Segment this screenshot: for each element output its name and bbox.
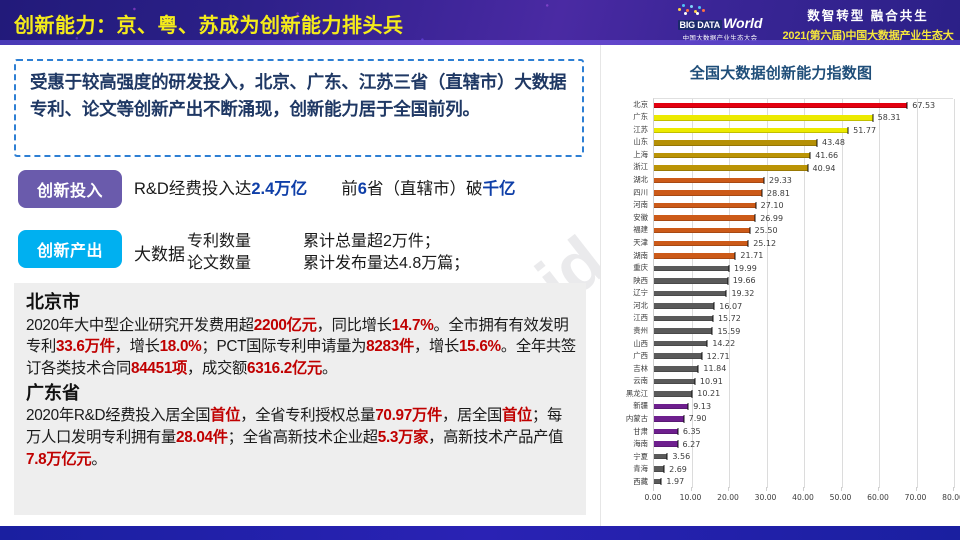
chart-bar-value-label: 11.84 [703,364,726,373]
chart-bar-value-label: 15.59 [717,327,740,336]
chart-tick-mark [916,487,917,491]
chart-category-label: 宁夏 [611,450,651,463]
chart-category-label: 山东 [611,136,651,149]
callout-text: 受惠于较高强度的研发投入，北京、广东、江苏三省（直辖市）大数据专利、论文等创新产… [30,69,570,123]
chart-bar-value-label: 41.66 [815,151,838,160]
badge-innovation-output: 创新产出 [18,230,122,268]
chart-tick-label: 70.00 [905,493,927,502]
chart-category-label: 浙江 [611,161,651,174]
chart-bar [654,441,678,447]
chart-category-label: 黑龙江 [611,387,651,400]
chart-bar-value-label: 25.12 [753,239,776,248]
chart-category-label: 西藏 [611,475,651,488]
chart-bar [654,153,810,159]
chart-category-label: 青海 [611,463,651,476]
chart-bar-row: 51.77 [654,124,953,137]
logo-subtitle: 中国大数据产业生态大会 [683,32,758,42]
chart-category-label: 甘肃 [611,425,651,438]
regions-detail-box: 北京市 2020年大中型企业研究开发费用超2200亿元，同比增长14.7%。全市… [14,283,586,515]
chart-bar [654,178,764,184]
chart-bar [654,190,762,196]
chart-bar-row: 6.27 [654,438,953,451]
chart-bar-row: 28.81 [654,187,953,200]
chart-bar-value-label: 43.48 [822,138,845,147]
chart-bar-row: 15.59 [654,325,953,338]
chart-category-label: 陕西 [611,274,651,287]
chart-bar [654,303,714,309]
chart-bar [654,454,667,460]
chart-category-label: 贵州 [611,324,651,337]
chart-category-label: 海南 [611,438,651,451]
chart-bar-value-label: 29.33 [769,176,792,185]
chart-category-label: 江西 [611,312,651,325]
chart-bar [654,278,728,284]
chart-bar-row: 14.22 [654,337,953,350]
chart-category-axis: 北京广东江苏山东上海浙江湖北四川河南安徽福建天津湖南重庆陕西辽宁河北江西贵州山西… [611,98,651,488]
header-slogan: 数智转型 融合共生 2021(第六届)中国大数据产业生态大会 [780,5,956,45]
chart-bar-row: 15.72 [654,312,953,325]
chart-bar-value-label: 25.50 [755,226,778,235]
chart-bar [654,328,712,334]
footer-bar [0,526,960,540]
chart-bar-row: 9.13 [654,400,953,413]
chart-tick-mark [803,487,804,491]
chart-tick-label: 0.00 [645,493,662,502]
chart-bar-value-label: 12.71 [707,352,730,361]
chart-bar [654,241,748,247]
chart-bar [654,316,713,322]
chart-tick-mark [878,487,879,491]
chart-bar [654,115,873,121]
chart-category-label: 湖北 [611,173,651,186]
chart-tick-label: 20.00 [717,493,739,502]
chart-category-label: 四川 [611,186,651,199]
chart-bar-row: 2.69 [654,463,953,476]
chart-category-label: 北京 [611,98,651,111]
chart-bar-value-label: 67.53 [912,101,935,110]
chart-bar-row: 10.21 [654,388,953,401]
chart-bar-row: 3.56 [654,450,953,463]
chart-category-label: 河北 [611,299,651,312]
chart-bar-row: 19.66 [654,275,953,288]
output-kinds-list: 专利数量 论文数量 [187,231,251,274]
region-title-guangdong: 广东省 [26,382,576,405]
chart-category-label: 新疆 [611,400,651,413]
chart-bar [654,228,750,234]
chart-bar [654,429,678,435]
chart-category-label: 湖南 [611,249,651,262]
chart-bar-row: 43.48 [654,137,953,150]
chart-bar-row: 25.12 [654,237,953,250]
chart-bar-row: 67.53 [654,99,953,112]
chart-bar-row: 7.90 [654,413,953,426]
chart-tick-mark [728,487,729,491]
chart-bar-row: 12.71 [654,350,953,363]
chart-category-label: 云南 [611,375,651,388]
chart-category-label: 广西 [611,350,651,363]
chart-bar [654,379,695,385]
chart-bar [654,253,735,259]
chart-bar-value-label: 2.69 [669,465,687,474]
innovation-input-row: R&D经费投入达2.4万亿 前6省（直辖市）破千亿 [134,175,584,199]
chart-bar-row: 19.99 [654,262,953,275]
chart-bar-value-label: 40.94 [813,164,836,173]
output-value-papers: 累计发布量达4.8万篇； [303,253,469,275]
logo-brand-text: BIG DATA [678,20,723,30]
chart-bar-value-label: 26.99 [760,214,783,223]
region-title-beijing: 北京市 [26,291,576,314]
chart-bar-value-label: 7.90 [689,414,707,423]
chart-bar [654,404,688,410]
chart-panel: 全国大数据创新能力指数图 北京广东江苏山东上海浙江湖北四川河南安徽福建天津湖南重… [600,45,960,526]
logo-dots-icon [678,4,708,15]
chart-tick-label: 40.00 [792,493,814,502]
chart-tick-label: 10.00 [680,493,702,502]
chart-bar-row: 41.66 [654,149,953,162]
header-banner: 创新能力：京、粤、苏成为创新能力排头兵 BIG DATA World 中国大数据… [0,0,960,45]
chart-tick-mark [841,487,842,491]
slide-root: 创新能力：京、粤、苏成为创新能力排头兵 BIG DATA World 中国大数据… [0,0,960,540]
region-paragraph-beijing: 2020年大中型企业研究开发费用超2200亿元，同比增长14.7%。全市拥有有效… [26,315,576,380]
output-values-list: 累计总量超2万件； 累计发布量达4.8万篇； [303,231,469,274]
chart-bar-value-label: 15.72 [718,314,741,323]
slogan-main-text: 数智转型 融合共生 [780,5,956,24]
chart-category-label: 山西 [611,337,651,350]
chart-tick-mark [953,487,954,491]
chart-category-label: 广东 [611,111,651,124]
chart-bar-value-label: 19.66 [733,276,756,285]
chart-bar [654,391,692,397]
top6-provinces-label: 前6省（直辖市）破千亿 [341,175,515,199]
chart-bar-row: 40.94 [654,162,953,175]
chart-value-axis: 0.0010.0020.0030.0040.0050.0060.0070.008… [653,490,953,506]
chart-bar [654,165,808,171]
chart-tick-mark [653,487,654,491]
chart-bar-row: 19.32 [654,287,953,300]
chart-bar-value-label: 51.77 [853,126,876,135]
chart-bar-row: 26.99 [654,212,953,225]
chart-category-label: 上海 [611,148,651,161]
chart-category-label: 吉林 [611,362,651,375]
chart-bar [654,416,684,422]
chart-bar-value-label: 58.31 [878,113,901,122]
rd-funding-label: R&D经费投入达2.4万亿 [134,175,307,199]
output-kind-patents: 专利数量 [187,231,251,253]
chart-bar-value-label: 28.81 [767,189,790,198]
chart-bar [654,215,755,221]
chart-bar-row: 11.84 [654,362,953,375]
callout-box: 受惠于较高强度的研发投入，北京、广东、江苏三省（直辖市）大数据专利、论文等创新产… [14,59,584,157]
chart-tick-mark [766,487,767,491]
chart-bar-value-label: 19.32 [731,289,754,298]
chart-bar [654,128,848,134]
chart-bar-value-label: 19.99 [734,264,757,273]
output-kind-papers: 论文数量 [187,253,251,275]
output-subject-label: 大数据 [134,240,185,265]
chart-gridline [954,99,955,488]
chart-bar [654,366,698,372]
page-title: 创新能力：京、粤、苏成为创新能力排头兵 [14,9,404,38]
region-paragraph-guangdong: 2020年R&D经费投入居全国首位，全省专利授权总量70.97万件，居全国首位；… [26,405,576,470]
chart-bar [654,291,726,297]
chart-bar-row: 16.07 [654,300,953,313]
chart-bar-row: 29.33 [654,174,953,187]
chart-category-label: 福建 [611,224,651,237]
chart-bar [654,341,707,347]
chart-bars: 67.5358.3151.7743.4841.6640.9429.3328.81… [654,99,953,488]
chart-bar-value-label: 1.97 [666,477,684,486]
chart-bar-row: 6.35 [654,425,953,438]
chart-bar-row: 27.10 [654,199,953,212]
chart-bar-value-label: 14.22 [712,339,735,348]
badge-innovation-input: 创新投入 [18,170,122,208]
chart-bar-value-label: 6.35 [683,427,701,436]
chart-bar-value-label: 10.91 [700,377,723,386]
bigdata-world-logo: BIG DATA World 中国大数据产业生态大会 [672,4,768,42]
innovation-output-row: 大数据 专利数量 论文数量 累计总量超2万件； 累计发布量达4.8万篇； [134,231,586,274]
chart-category-label: 天津 [611,236,651,249]
chart-tick-label: 80.00 [942,493,960,502]
chart-bar-value-label: 27.10 [761,201,784,210]
output-value-patents: 累计总量超2万件； [303,231,469,253]
chart-bar-value-label: 10.21 [697,389,720,398]
chart-bar-value-label: 16.07 [719,302,742,311]
chart-bar [654,140,817,146]
chart-bar-row: 25.50 [654,224,953,237]
chart-bar-row: 10.91 [654,375,953,388]
chart-tick-mark [691,487,692,491]
chart-plot: 67.5358.3151.7743.4841.6640.9429.3328.81… [653,98,953,488]
left-content-panel: ccid ccid 受惠于较高强度的研发投入，北京、广东、江苏三省（直辖市）大数… [0,45,600,515]
chart-bar [654,353,702,359]
chart-bar-value-label: 9.13 [693,402,711,411]
chart-bar [654,203,756,209]
chart-tick-label: 30.00 [755,493,777,502]
chart-bar-value-label: 21.71 [740,251,763,260]
chart-category-label: 重庆 [611,262,651,275]
chart-category-label: 江苏 [611,123,651,136]
chart-category-label: 河南 [611,199,651,212]
chart-category-label: 安徽 [611,211,651,224]
chart-tick-label: 60.00 [867,493,889,502]
chart-bar-row: 21.71 [654,250,953,263]
chart-category-label: 辽宁 [611,287,651,300]
chart-category-label: 内蒙古 [611,412,651,425]
chart-bar-value-label: 6.27 [683,440,701,449]
chart-title: 全国大数据创新能力指数图 [601,62,960,83]
chart-bar-value-label: 3.56 [672,452,690,461]
chart-bar [654,103,907,109]
slogan-sub-text: 2021(第六届)中国大数据产业生态大会 [780,27,956,45]
chart-bar-row: 58.31 [654,112,953,125]
chart-plot-area: 北京广东江苏山东上海浙江湖北四川河南安徽福建天津湖南重庆陕西辽宁河北江西贵州山西… [611,98,955,500]
logo-world-text: World [723,15,762,31]
chart-bar [654,466,664,472]
chart-bar [654,266,729,272]
chart-tick-label: 50.00 [830,493,852,502]
chart-bar [654,479,661,485]
